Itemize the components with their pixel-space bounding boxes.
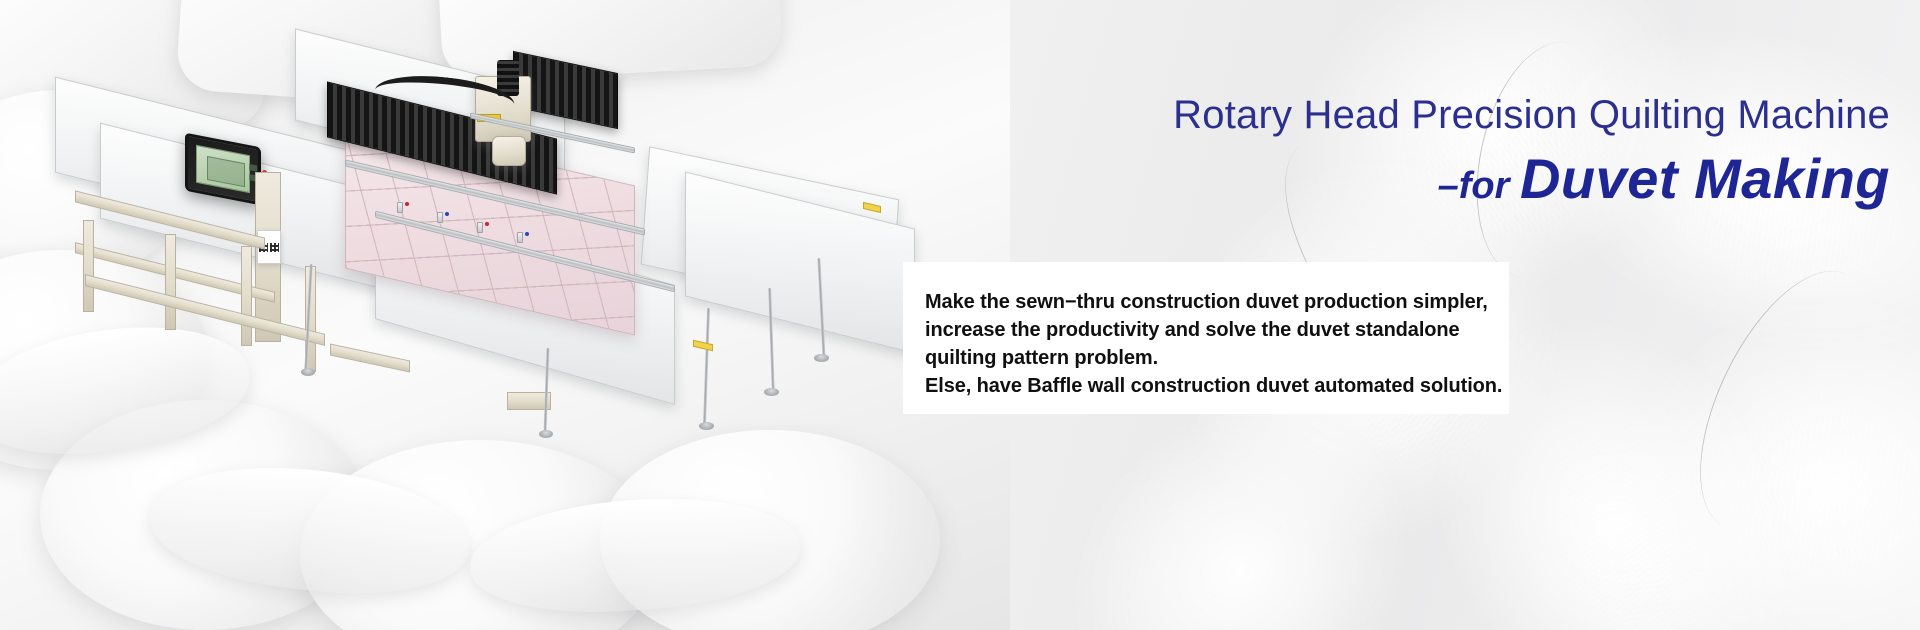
support-leg-foot: [539, 430, 553, 438]
clamp-indicator: [485, 222, 489, 226]
support-leg-foot: [814, 354, 829, 362]
feather-barbs: [1620, 305, 1920, 630]
product-banner: Rotary Head Precision Quilting Machine –…: [0, 0, 1920, 630]
feather-quill: [1665, 246, 1905, 555]
qr-code-icon: [270, 243, 279, 252]
description-line: increase the productivity and solve the …: [925, 316, 1509, 344]
lcd-graphic: [207, 156, 245, 187]
fabric-clamp: [437, 212, 443, 223]
support-leg-foot: [699, 422, 714, 430]
warning-label: [693, 340, 713, 352]
sewing-head-nose: [492, 136, 526, 166]
feather-shape: [1585, 260, 1920, 630]
control-panel-lcd: [196, 145, 250, 193]
base-frame-beam: [330, 343, 410, 372]
base-frame-post: [165, 234, 176, 330]
headline-secondary: –for Duvet Making: [1173, 150, 1890, 209]
fabric-clamp: [397, 202, 403, 213]
headline-group: Rotary Head Precision Quilting Machine –…: [1173, 94, 1890, 209]
lcd-graphic: [249, 164, 257, 172]
base-frame-post: [241, 246, 252, 346]
description-line: Else, have Baffle wall construction duve…: [925, 372, 1509, 400]
support-leg-foot: [764, 388, 779, 396]
description-box: Make the sewn−thru construction duvet pr…: [903, 262, 1509, 414]
clamp-indicator: [405, 202, 409, 206]
base-frame-post: [83, 220, 94, 312]
fabric-clamp: [477, 222, 483, 233]
headline-prefix: –for: [1438, 165, 1520, 207]
fabric-clamp: [517, 232, 523, 243]
quilting-machine-photo: [45, 52, 945, 472]
headline-primary: Rotary Head Precision Quilting Machine: [1173, 94, 1890, 136]
description-line: quilting pattern problem.: [925, 344, 1509, 372]
headline-emphasis: Duvet Making: [1520, 147, 1890, 210]
support-leg: [703, 308, 710, 426]
clamp-indicator: [525, 232, 529, 236]
description-line: Make the sewn−thru construction duvet pr…: [925, 288, 1509, 316]
support-leg-foot: [301, 368, 315, 376]
clamp-indicator: [445, 212, 449, 216]
